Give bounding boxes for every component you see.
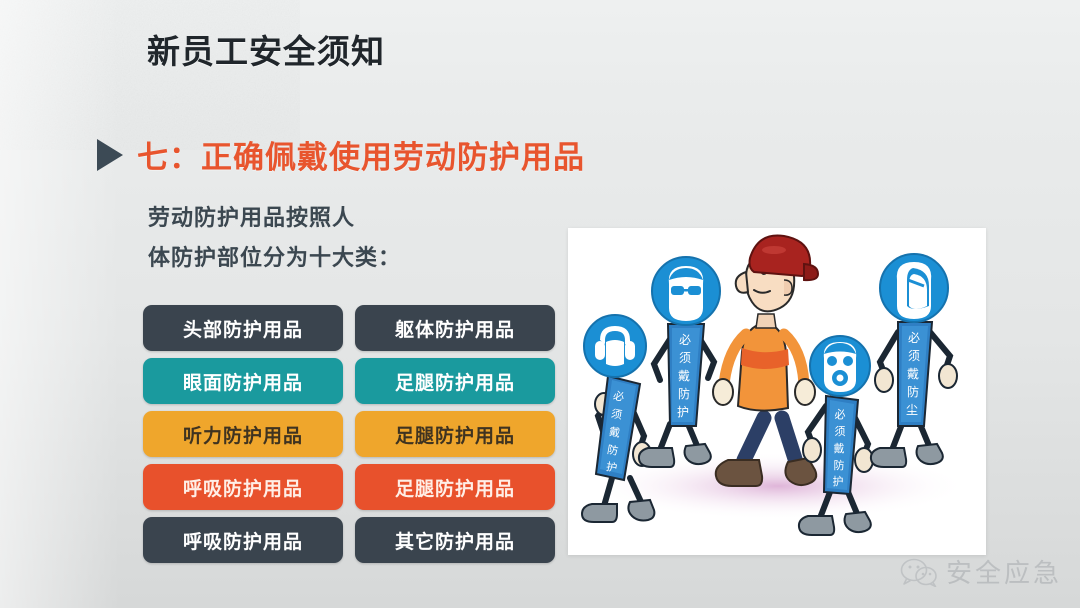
svg-text:须: 须 (908, 349, 920, 363)
ppe-tag[interactable]: 听力防护用品 (143, 411, 343, 457)
svg-text:戴: 戴 (907, 366, 919, 381)
slide-canvas: 新员工安全须知 七：正确佩戴使用劳动防护用品 劳动防护用品按照人 体防护部位分为… (0, 0, 1080, 608)
svg-text:尘: 尘 (906, 403, 918, 417)
left-light-band (0, 0, 120, 608)
ppe-tag[interactable]: 足腿防护用品 (355, 464, 555, 510)
ppe-tag[interactable]: 躯体防护用品 (355, 305, 555, 351)
ppe-tag[interactable]: 呼吸防护用品 (143, 464, 343, 510)
section-heading: 七：正确佩戴使用劳动防护用品 (97, 132, 585, 177)
ppe-tag[interactable]: 足腿防护用品 (355, 411, 555, 457)
svg-text:防: 防 (907, 384, 919, 399)
background-noise-texture (0, 0, 300, 150)
ppe-tag[interactable]: 眼面防护用品 (143, 358, 343, 404)
svg-text:戴: 戴 (834, 441, 845, 455)
watermark: 安全应急 (900, 553, 1062, 590)
ppe-tag[interactable]: 足腿防护用品 (355, 358, 555, 404)
wechat-bubble-icon (900, 557, 938, 587)
svg-text:防: 防 (678, 386, 690, 401)
section-heading-label: 七：正确佩戴使用劳动防护用品 (137, 132, 585, 177)
triangle-right-icon (97, 139, 123, 171)
svg-text:须: 须 (835, 425, 846, 438)
watermark-label: 安全应急 (946, 553, 1062, 590)
svg-text:必: 必 (612, 389, 625, 404)
svg-text:须: 须 (610, 407, 623, 422)
svg-text:必: 必 (679, 333, 691, 347)
svg-text:护: 护 (677, 405, 689, 419)
page-title: 新员工安全须知 (147, 25, 385, 73)
ppe-tag[interactable]: 其它防护用品 (355, 517, 555, 563)
ppe-tag[interactable]: 呼吸防护用品 (143, 517, 343, 563)
lead-paragraph: 劳动防护用品按照人 体防护部位分为十大类： (148, 198, 401, 278)
lead-line-1: 劳动防护用品按照人 (148, 198, 401, 238)
lead-line-2: 体防护部位分为十大类： (148, 238, 401, 278)
svg-text:护: 护 (833, 474, 844, 488)
ppe-tag[interactable]: 头部防护用品 (143, 305, 343, 351)
ppe-category-grid: 头部防护用品 躯体防护用品 眼面防护用品 足腿防护用品 听力防护用品 足腿防护用… (143, 305, 555, 563)
ppe-illustration-panel: 必 须 戴 防 护 (568, 228, 986, 555)
svg-text:防: 防 (834, 458, 845, 472)
svg-text:戴: 戴 (678, 368, 690, 383)
svg-text:必: 必 (835, 408, 846, 421)
ppe-cartoon-illustration: 必 须 戴 防 护 (568, 228, 986, 555)
svg-text:必: 必 (908, 331, 920, 345)
svg-text:须: 须 (679, 351, 691, 365)
